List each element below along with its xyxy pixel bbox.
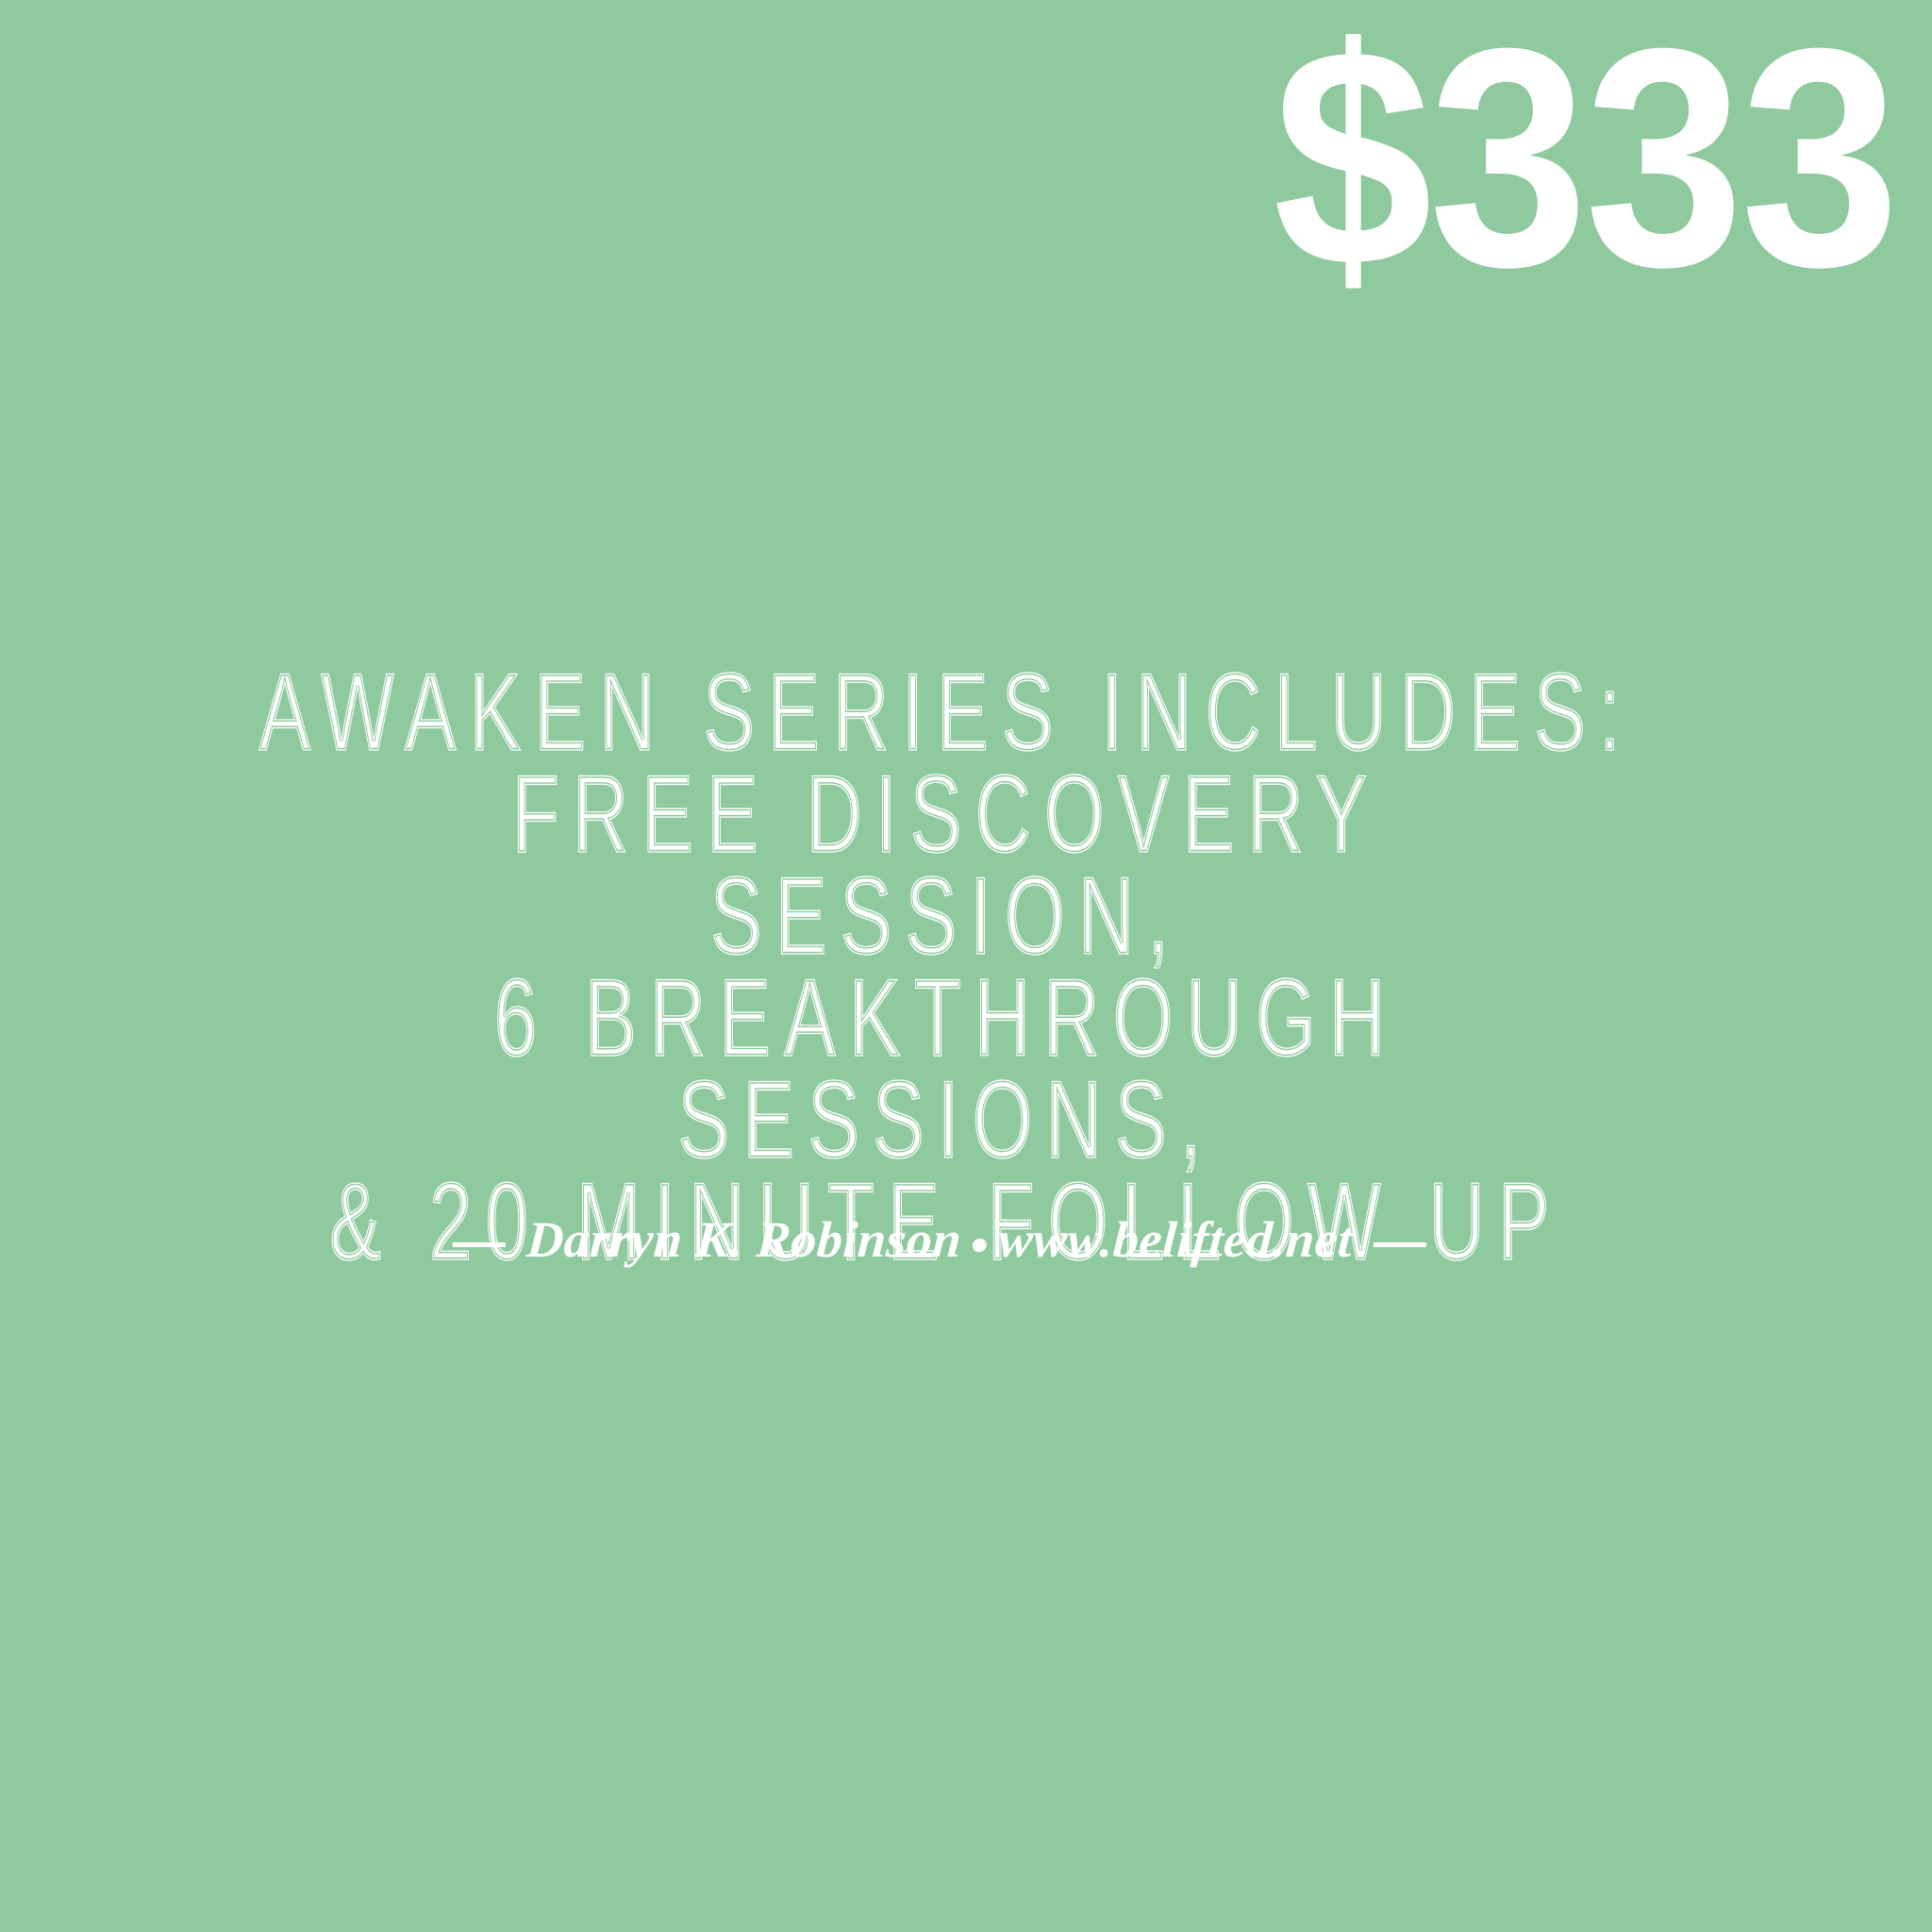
left-rule-decoration — [453, 1242, 506, 1247]
offer-line-5: SESSIONS, SESSIONS, SESSIONS, — [0, 1058, 1879, 1160]
offer-text-block: AWAKEN SERIES INCLUDES: AWAKEN SERIES IN… — [0, 651, 1932, 1262]
price-label: $333 — [1273, 2, 1896, 313]
bullet-separator-icon: • — [969, 1216, 991, 1274]
offer-line-3: SESSION, SESSION, SESSION, — [0, 855, 1879, 957]
attribution-line: Darryn K. Robinson•www.belifted.net — [0, 1210, 1932, 1274]
author-name: Darryn K. Robinson — [525, 1211, 964, 1268]
right-rule-decoration — [1373, 1242, 1425, 1247]
offer-line-1: AWAKEN SERIES INCLUDES: AWAKEN SERIES IN… — [0, 651, 1879, 753]
website-url[interactable]: www.belifted.net — [997, 1211, 1355, 1268]
offer-line-4: 6 BREAKTHROUGH 6 BREAKTHROUGH 6 BREAKTHR… — [0, 957, 1879, 1058]
poster-canvas: $333 AWAKEN SERIES INCLUDES: AWAKEN SERI… — [0, 0, 1932, 1932]
offer-line-2: FREE DISCOVERY FREE DISCOVERY FREE DISCO… — [0, 753, 1879, 855]
